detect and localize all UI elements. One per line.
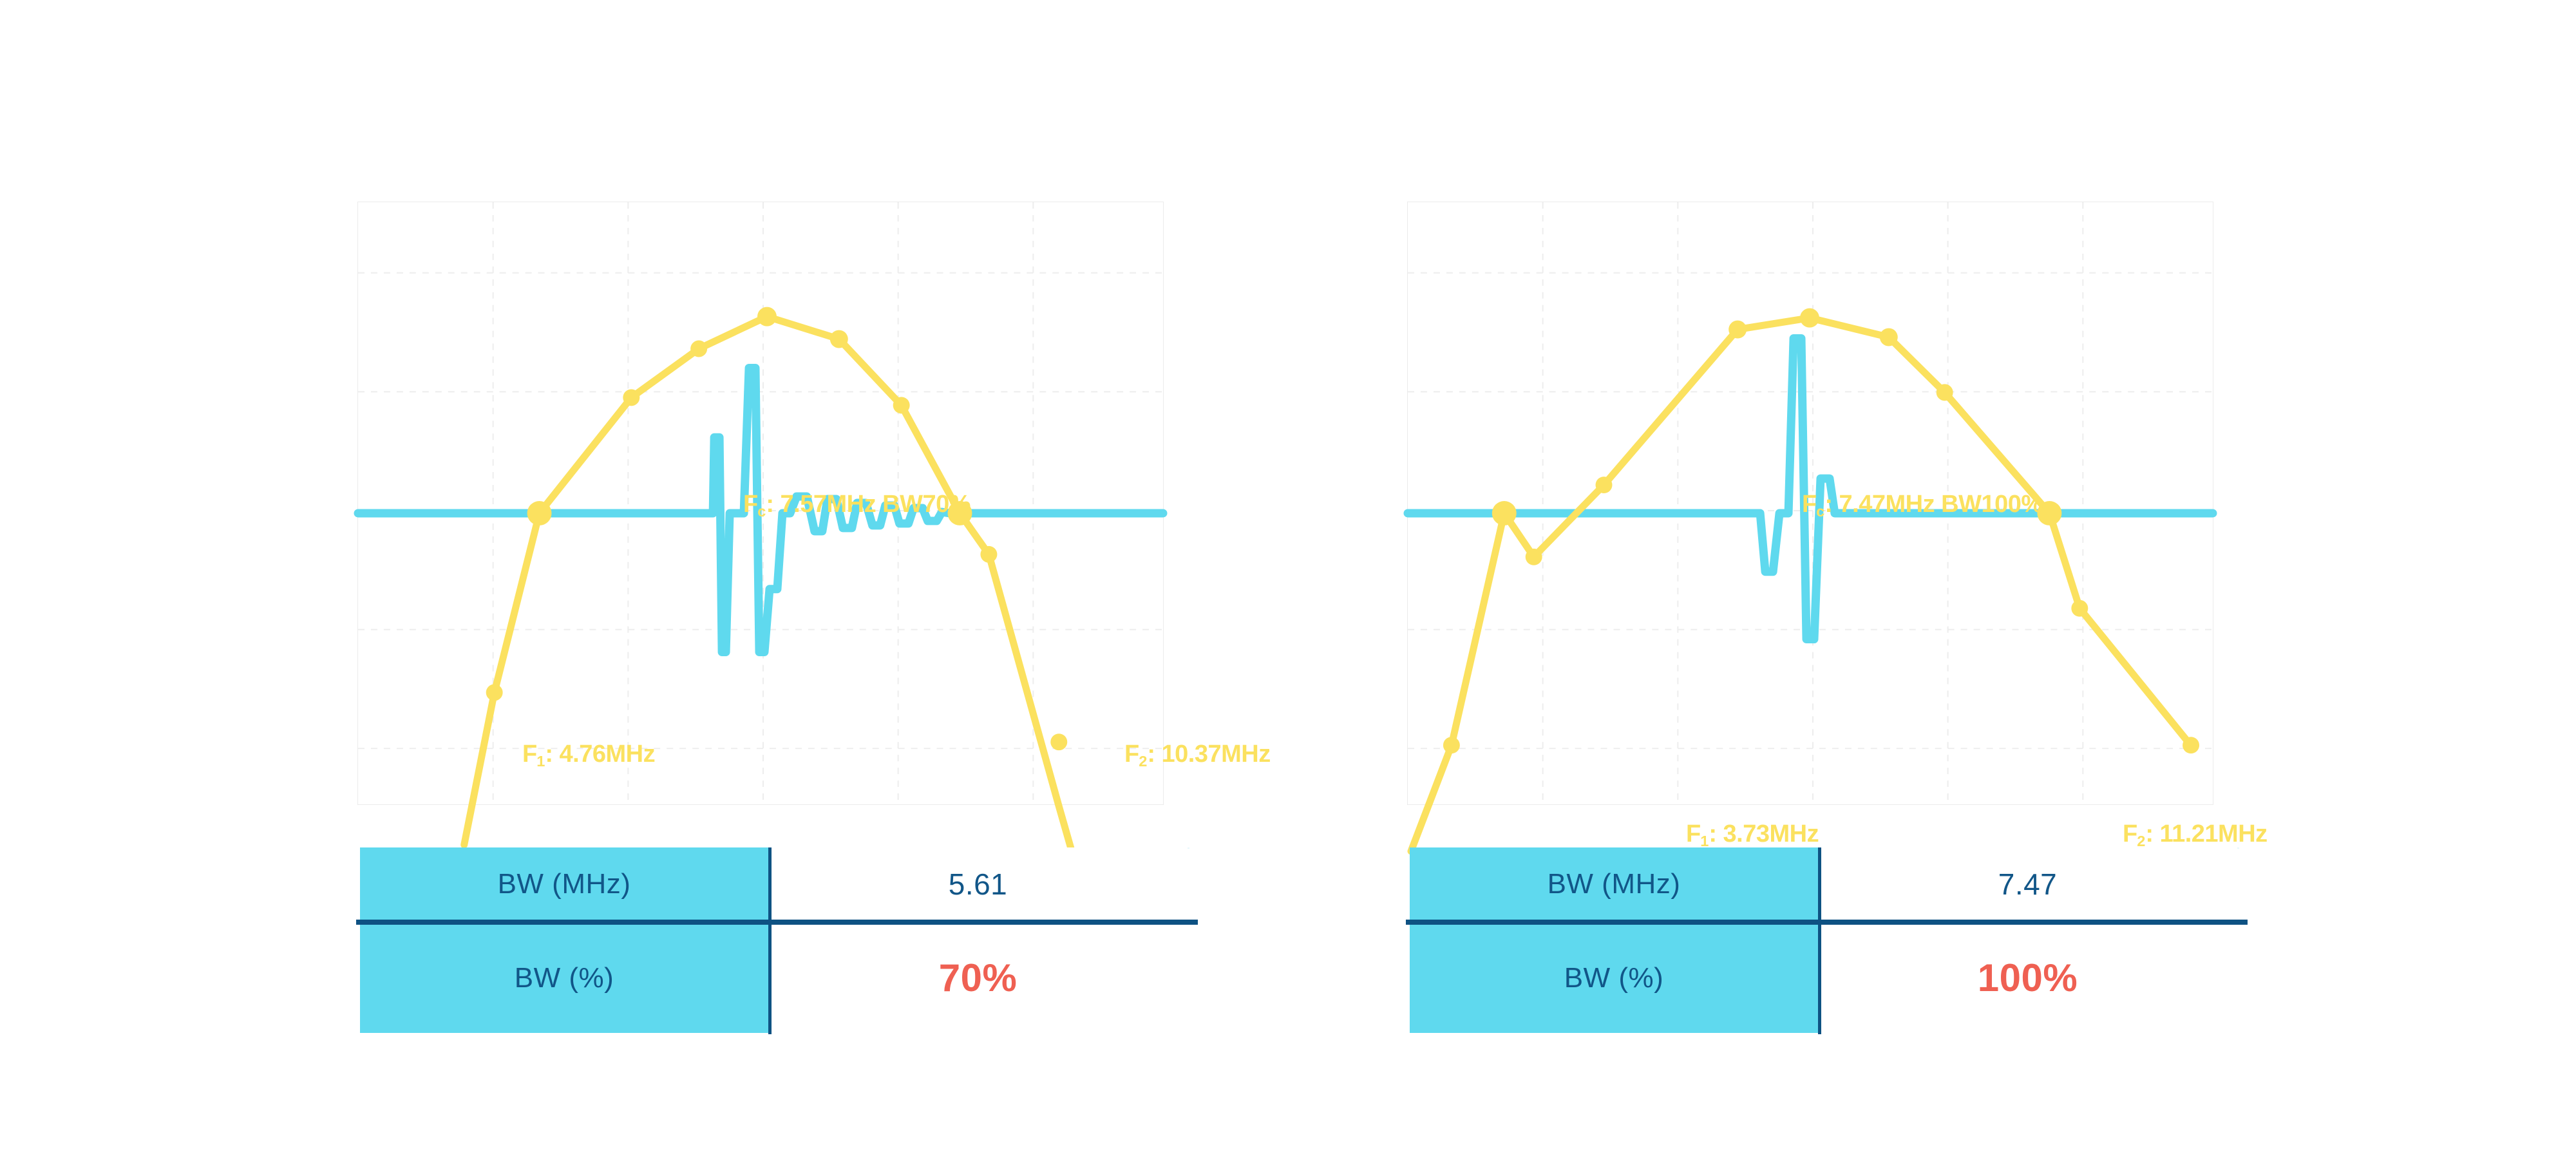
- table-column-divider: [768, 847, 772, 1034]
- annot-symbol: F: [1802, 491, 1817, 518]
- figure-canvas: Fc: 7.57MHz BW70% F1: 4.76MHz F2: 10.37M…: [0, 0, 2576, 1154]
- table-value-cell: 7.47: [1818, 847, 2237, 920]
- table-row: BW (%) 70%: [360, 923, 1188, 1033]
- table-header-label: BW (MHz): [1548, 868, 1681, 900]
- panel-left: Fc: 7.57MHz BW70% F1: 4.76MHz F2: 10.37M…: [200, 0, 1294, 1154]
- spectrum-markers-left: [486, 307, 1068, 751]
- table-header-label: BW (%): [1564, 962, 1664, 994]
- table-header-label: BW (MHz): [498, 868, 631, 900]
- bandwidth-table-right: BW (MHz) 7.47 BW (%) 100%: [1410, 847, 2237, 1034]
- panel-right: Fc: 7.47MHz BW100% F1: 3.73MHz F2: 11.21…: [1249, 0, 2344, 1154]
- annotation-upper-cutoff-left: F2: 10.37MHz: [1124, 742, 1271, 766]
- chart-left: Fc: 7.57MHz BW70% F1: 4.76MHz F2: 10.37M…: [357, 202, 1164, 805]
- table-value-cell: 70%: [768, 923, 1188, 1033]
- table-row-divider: [1406, 920, 2248, 925]
- bandwidth-table-left: BW (MHz) 5.61 BW (%) 70%: [360, 847, 1188, 1034]
- annotation-upper-cutoff-right: F2: 11.21MHz: [2123, 822, 2268, 846]
- annot-text: : 11.21MHz: [2145, 820, 2267, 847]
- annot-subscript: 2: [1139, 753, 1147, 770]
- annot-text: : 7.57MHz BW70%: [766, 491, 971, 518]
- annotation-lower-cutoff-left: F1: 4.76MHz: [522, 742, 655, 766]
- annotation-center-frequency-left: Fc: 7.57MHz BW70%: [743, 492, 971, 516]
- table-row: BW (MHz) 5.61: [360, 847, 1188, 920]
- annot-text: : 4.76MHz: [545, 741, 655, 768]
- annot-subscript: 1: [536, 753, 545, 770]
- table-row: BW (MHz) 7.47: [1410, 847, 2237, 920]
- annot-symbol: F: [522, 741, 537, 768]
- bandwidth-percent-value: 70%: [939, 956, 1018, 1000]
- bandwidth-percent-value: 100%: [1978, 956, 2078, 1000]
- table-header-cell: BW (%): [360, 923, 768, 1033]
- table-value-cell: 100%: [1818, 923, 2237, 1033]
- annot-symbol: F: [743, 491, 758, 518]
- annotation-center-frequency-right: Fc: 7.47MHz BW100%: [1802, 492, 2043, 516]
- table-value-cell: 5.61: [768, 847, 1188, 920]
- spectrum-trace-left: [464, 317, 1072, 851]
- bandwidth-mhz-value: 7.47: [1998, 867, 2058, 902]
- chart-right: Fc: 7.47MHz BW100% F1: 3.73MHz F2: 11.21…: [1407, 202, 2213, 805]
- table-header-cell: BW (MHz): [1410, 847, 1818, 920]
- annot-text: : 3.73MHz: [1709, 820, 1819, 847]
- bandwidth-mhz-value: 5.61: [949, 867, 1008, 902]
- impulse-trace-right: [1408, 339, 2213, 639]
- table-header-cell: BW (MHz): [360, 847, 768, 920]
- annot-subscript: c: [1816, 503, 1824, 520]
- annot-symbol: F: [2123, 820, 2137, 847]
- table-column-divider: [1818, 847, 1821, 1034]
- table-row-divider: [356, 920, 1198, 925]
- annot-text: : 7.47MHz BW100%: [1824, 491, 2042, 518]
- table-header-cell: BW (%): [1410, 923, 1818, 1033]
- annot-symbol: F: [1124, 741, 1139, 768]
- table-header-label: BW (%): [515, 962, 614, 994]
- annotation-lower-cutoff-right: F1: 3.73MHz: [1686, 822, 1819, 846]
- annot-subscript: c: [757, 503, 766, 520]
- table-row: BW (%) 100%: [1410, 923, 2237, 1033]
- annot-symbol: F: [1686, 820, 1701, 847]
